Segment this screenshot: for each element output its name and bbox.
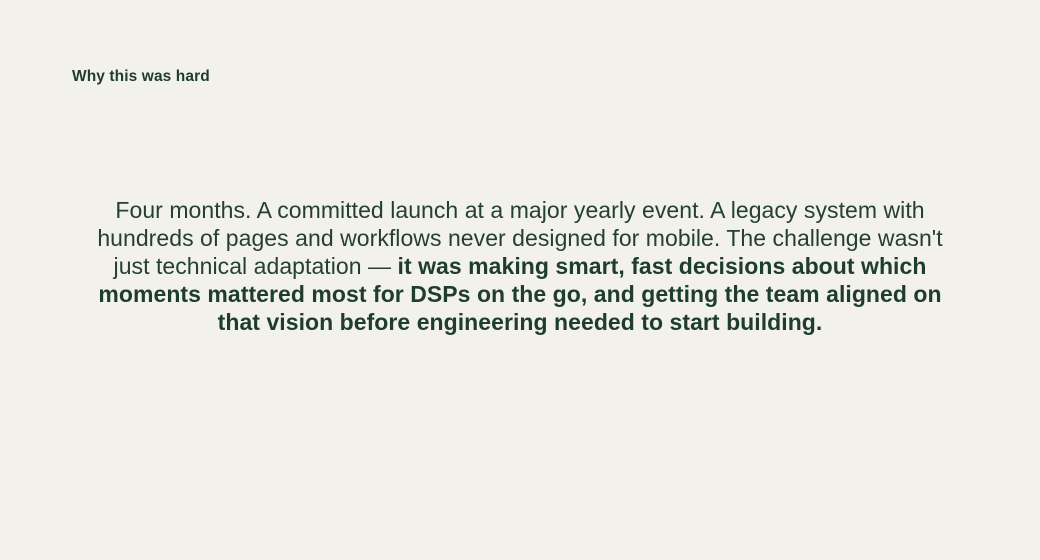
slide-canvas: Why this was hard Four months. A committ… (0, 0, 1040, 560)
body-paragraph: Four months. A committed launch at a maj… (82, 196, 958, 336)
section-eyebrow-heading: Why this was hard (72, 66, 210, 88)
body-text-block: Four months. A committed launch at a maj… (82, 196, 958, 336)
